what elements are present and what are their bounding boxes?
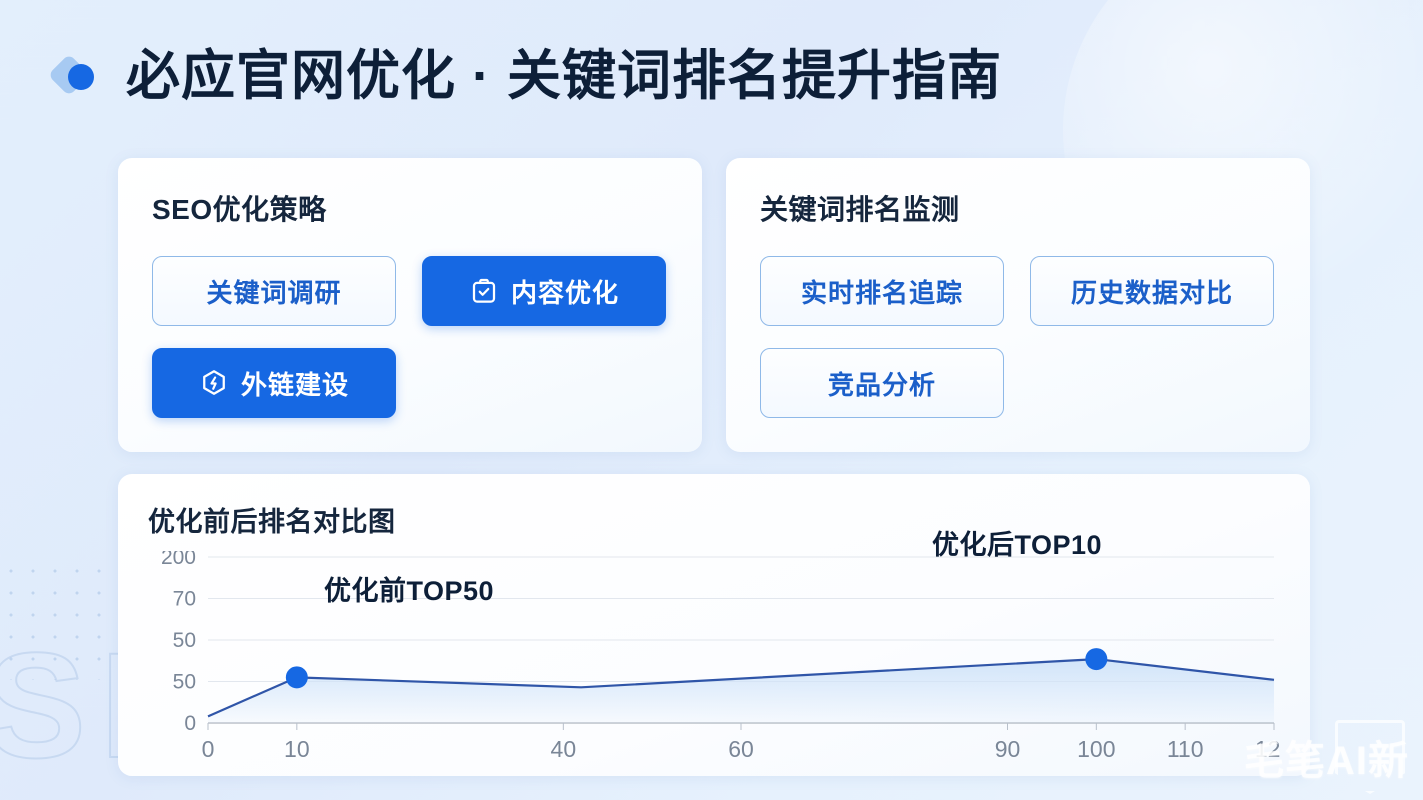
y-axis-tick: 0 — [184, 712, 196, 735]
x-axis-tick: 10 — [284, 736, 310, 762]
page-header: 必应官网优化 · 关键词排名提升指南 — [52, 48, 1002, 105]
chart-area-fill — [208, 659, 1274, 723]
corner-watermark-mark — [1335, 720, 1405, 794]
card-title-keyword-monitoring: 关键词排名监测 — [760, 188, 1276, 228]
card-seo-strategy: SEO优化策略 关键词调研 内容优化 — [118, 158, 702, 452]
chip-row-seo-strategy: 关键词调研 内容优化 — [152, 256, 668, 418]
chip-keyword-research[interactable]: 关键词调研 — [152, 256, 396, 326]
chip-historical-data-compare[interactable]: 历史数据对比 — [1030, 256, 1274, 326]
chip-content-optimization[interactable]: 内容优化 — [422, 256, 666, 326]
page-title: 必应官网优化 · 关键词排名提升指南 — [126, 48, 1002, 105]
rank-comparison-line-chart: 2007050500010406090100110120 — [148, 551, 1280, 771]
card-title-seo-strategy: SEO优化策略 — [152, 188, 668, 228]
chip-label: 竞品分析 — [828, 365, 936, 402]
x-axis-tick: 40 — [551, 736, 577, 762]
x-axis-tick: 100 — [1077, 736, 1115, 762]
chart-title: 优化前后排名对比图 — [148, 500, 1280, 539]
hexagon-bolt-icon — [199, 368, 229, 398]
chip-label: 外链建设 — [241, 365, 349, 402]
chip-realtime-rank-tracking[interactable]: 实时排名追踪 — [760, 256, 1004, 326]
chart-data-point[interactable] — [286, 666, 308, 688]
chart-plot-area: 2007050500010406090100110120 优化前TOP50 优化… — [148, 551, 1280, 771]
x-axis-tick: 0 — [202, 736, 215, 762]
x-axis-tick: 60 — [728, 736, 754, 762]
y-axis-tick: 50 — [173, 671, 196, 694]
chip-row-keyword-monitoring: 实时排名追踪 历史数据对比 竞品分析 — [760, 256, 1276, 418]
annotation-before: 优化前TOP50 — [324, 569, 494, 608]
y-axis-tick: 200 — [161, 551, 196, 569]
chip-label: 内容优化 — [511, 273, 619, 310]
chart-data-point[interactable] — [1085, 648, 1107, 670]
y-axis-tick: 70 — [173, 588, 196, 611]
chip-competitor-analysis[interactable]: 竞品分析 — [760, 348, 1004, 418]
feature-cards-row: SEO优化策略 关键词调研 内容优化 — [118, 158, 1310, 452]
brand-circle-shape — [68, 64, 94, 90]
y-axis-tick: 50 — [173, 629, 196, 652]
chip-label: 关键词调研 — [206, 273, 341, 310]
x-axis-tick: 110 — [1167, 736, 1204, 762]
chip-backlink-building[interactable]: 外链建设 — [152, 348, 396, 418]
annotation-after: 优化后TOP10 — [932, 523, 1102, 562]
x-axis-tick: 90 — [995, 736, 1021, 762]
chip-label: 历史数据对比 — [1071, 273, 1233, 310]
x-axis-tick: 120 — [1255, 736, 1280, 762]
card-rank-comparison-chart: 优化前后排名对比图 2007050500010406090100110120 优… — [118, 474, 1310, 776]
chip-label: 实时排名追踪 — [801, 273, 963, 310]
card-keyword-monitoring: 关键词排名监测 实时排名追踪 历史数据对比 竞品分析 — [726, 158, 1310, 452]
brand-diamond-circle-icon — [52, 52, 100, 100]
clipboard-check-icon — [469, 276, 499, 306]
